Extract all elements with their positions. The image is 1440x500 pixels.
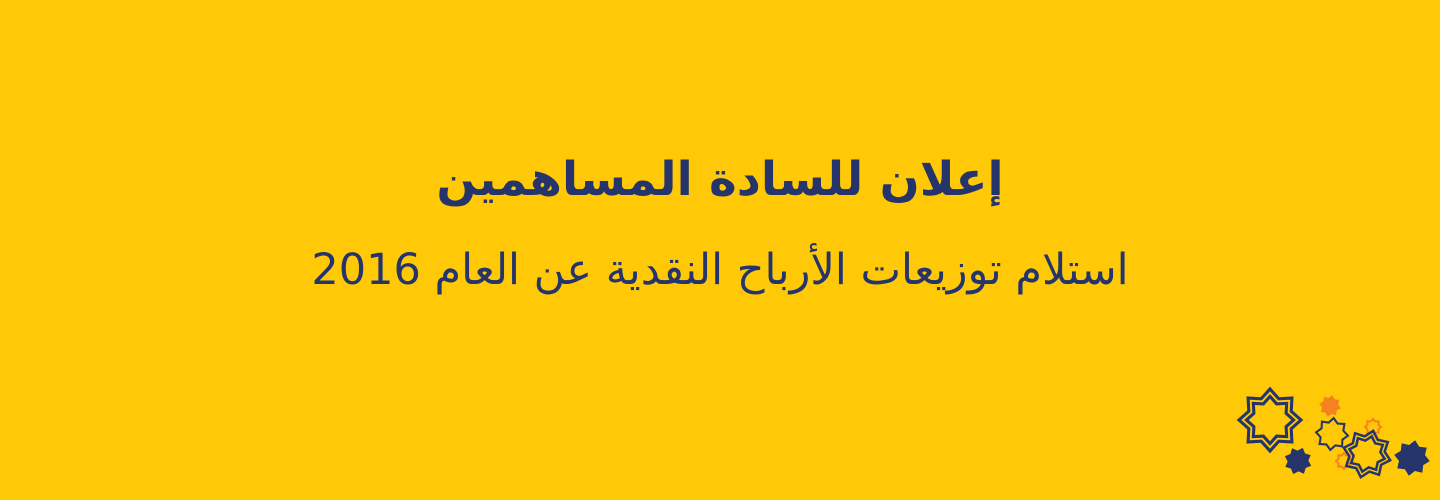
star-medium-nested-outline-navy bbox=[1344, 431, 1390, 477]
ornament-layer bbox=[0, 0, 1440, 500]
star-ornament-cluster-svg bbox=[0, 0, 1440, 500]
star-medium-outline-navy bbox=[1316, 418, 1348, 450]
announcement-banner: إعلان للسادة المساهمين استلام توزيعات ال… bbox=[0, 0, 1440, 500]
star-large-outline-navy bbox=[1239, 389, 1301, 451]
star-right-filled-navy bbox=[1394, 440, 1429, 475]
star-small-filled-navy bbox=[1285, 448, 1311, 474]
star-small-filled-orange bbox=[1319, 395, 1341, 417]
ornament-group bbox=[1239, 389, 1430, 477]
